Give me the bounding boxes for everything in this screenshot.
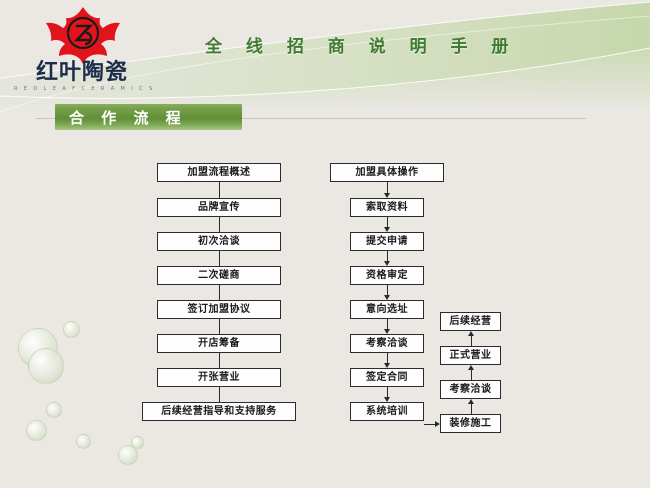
flow-connector (219, 319, 220, 334)
flow-connector (471, 404, 472, 414)
flow-connector (219, 251, 220, 266)
flow-node: 签定合同 (350, 368, 424, 387)
flow-node: 提交申请 (350, 232, 424, 251)
flow-node: 后续经营 (440, 312, 501, 331)
flow-node: 二次磋商 (157, 266, 281, 285)
flow-node: 正式营业 (440, 346, 501, 365)
flow-connector (219, 217, 220, 232)
flow-connector (387, 353, 388, 363)
flow-connector (387, 319, 388, 329)
flow-node: 资格审定 (350, 266, 424, 285)
flow-node: 索取资料 (350, 198, 424, 217)
flow-connector (219, 285, 220, 300)
flow-node: 后续经营指导和支持服务 (142, 402, 296, 421)
flow-arrowhead (468, 399, 474, 404)
flow-connector (471, 336, 472, 346)
flow-arrowhead (435, 421, 440, 427)
flow-connector (387, 217, 388, 227)
flow-connector (219, 353, 220, 368)
flow-node-header: 加盟流程概述 (157, 163, 281, 182)
flow-node: 意向选址 (350, 300, 424, 319)
slide-canvas: 红叶陶瓷 R E D L E A F C E R A M I C S 全 线 招… (0, 0, 650, 488)
flow-connector (219, 182, 220, 198)
flow-connector (471, 370, 472, 380)
flow-node: 开张营业 (157, 368, 281, 387)
flow-connector (219, 387, 220, 402)
flow-connector (387, 285, 388, 295)
flow-node: 装修施工 (440, 414, 501, 433)
flow-arrowhead (468, 331, 474, 336)
flow-node: 开店筹备 (157, 334, 281, 353)
flow-connector (387, 387, 388, 397)
flow-node: 考察洽谈 (440, 380, 501, 399)
flowchart: 加盟流程概述品牌宣传初次洽谈二次磋商签订加盟协议开店筹备开张营业后续经营指导和支… (0, 0, 650, 488)
flow-node: 签订加盟协议 (157, 300, 281, 319)
flow-node: 初次洽谈 (157, 232, 281, 251)
flow-node-header: 加盟具体操作 (330, 163, 444, 182)
flow-connector (387, 182, 388, 193)
flow-arrowhead (468, 365, 474, 370)
flow-node: 考察洽谈 (350, 334, 424, 353)
flow-connector (387, 251, 388, 261)
flow-node: 系统培训 (350, 402, 424, 421)
flow-node: 品牌宣传 (157, 198, 281, 217)
flow-connector (424, 424, 435, 425)
